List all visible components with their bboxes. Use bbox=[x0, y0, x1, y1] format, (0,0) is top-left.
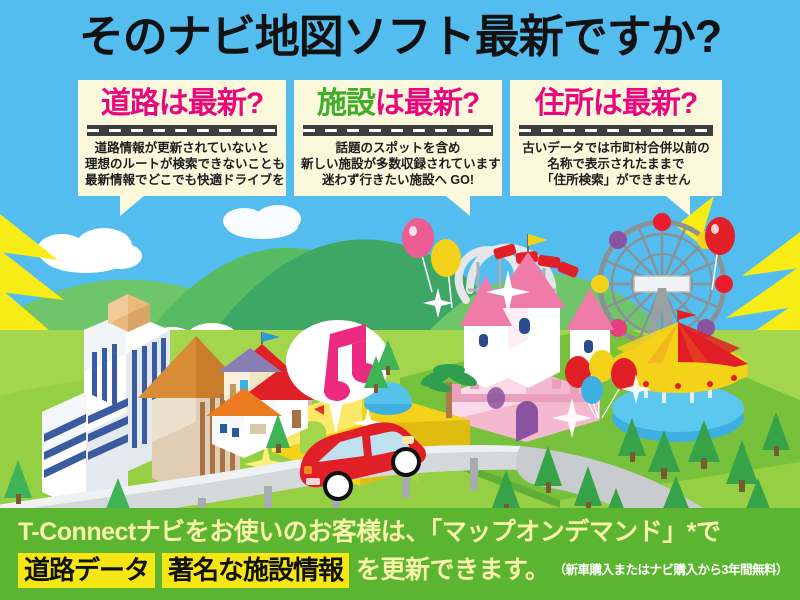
callout-title-address-keyword: 住所 bbox=[535, 87, 593, 120]
callout-body-facility-line3: 迷わず行きたい施設へ GO! bbox=[301, 172, 495, 188]
banner-update-text: を更新できます。 bbox=[356, 555, 550, 585]
callout-title-road-suffix: は最新? bbox=[159, 87, 263, 120]
callout-body-road-line2: 理想のルートが検索できないことも bbox=[85, 156, 279, 172]
callout-box-facility[interactable]: 施設は最新? 話題のスポットを含め 新しい施設が多数収録されています 迷わず行き… bbox=[294, 80, 502, 196]
callout-title-facility-keyword: 施設 bbox=[317, 87, 375, 120]
road-divider-icon bbox=[303, 125, 493, 136]
callout-title-facility: 施設は最新? bbox=[301, 86, 495, 122]
callout-tail-facility bbox=[446, 196, 470, 216]
callout-title-facility-suffix: は最新? bbox=[375, 87, 479, 120]
banner-chip-facility-info: 著名な施設情報 bbox=[162, 553, 349, 588]
callout-body-facility-line2: 新しい施設が多数収録されています bbox=[301, 156, 495, 172]
page-title: そのナビ地図ソフト最新ですか? bbox=[0, 6, 800, 68]
callout-box-road[interactable]: 道路は最新? 道路情報が更新されていないと 理想のルートが検索できないことも 最… bbox=[78, 80, 286, 196]
callout-box-address[interactable]: 住所は最新? 古いデータでは市町村合併以前の 名称で表示されたままで 「住所検索… bbox=[510, 80, 722, 196]
road-divider-icon bbox=[87, 125, 277, 136]
balloon-pink-small bbox=[487, 387, 505, 409]
callout-title-road: 道路は最新? bbox=[85, 86, 279, 122]
cloud-right bbox=[223, 205, 301, 239]
callout-tail-address bbox=[666, 196, 690, 216]
callout-title-address: 住所は最新? bbox=[517, 86, 715, 122]
callout-body-address-line3: 「住所検索」ができません bbox=[517, 172, 715, 188]
advertisement-poster: そのナビ地図ソフト最新ですか? 道路は最新? 道路情報が更新されていないと 理想… bbox=[0, 0, 800, 600]
callout-body-address-line2: 名称で表示されたままで bbox=[517, 156, 715, 172]
banner-headline: T-Connectナビをお使いのお客様は、「マップオンデマンド」*で bbox=[18, 516, 720, 548]
callout-body-road-line1: 道路情報が更新されていないと bbox=[85, 140, 279, 156]
callout-body-facility-line1: 話題のスポットを含め bbox=[301, 140, 495, 156]
callout-body-address-line1: 古いデータでは市町村合併以前の bbox=[517, 140, 715, 156]
callout-title-road-keyword: 道路 bbox=[101, 87, 159, 120]
banner-chip-road-data: 道路データ bbox=[18, 553, 155, 588]
promo-banner: T-Connectナビをお使いのお客様は、「マップオンデマンド」*で 道路データ… bbox=[0, 508, 800, 600]
callout-tail-road bbox=[120, 196, 144, 216]
banner-subline: 道路データ 著名な施設情報 を更新できます。 （新車購入またはナビ購入から3年間… bbox=[18, 553, 788, 587]
callout-body-road-line3: 最新情報でどこでも快適ドライブを bbox=[85, 172, 279, 188]
banner-footnote: （新車購入またはナビ購入から3年間無料） bbox=[554, 563, 788, 577]
road-divider-icon bbox=[519, 125, 713, 136]
callout-title-address-suffix: は最新? bbox=[593, 87, 697, 120]
